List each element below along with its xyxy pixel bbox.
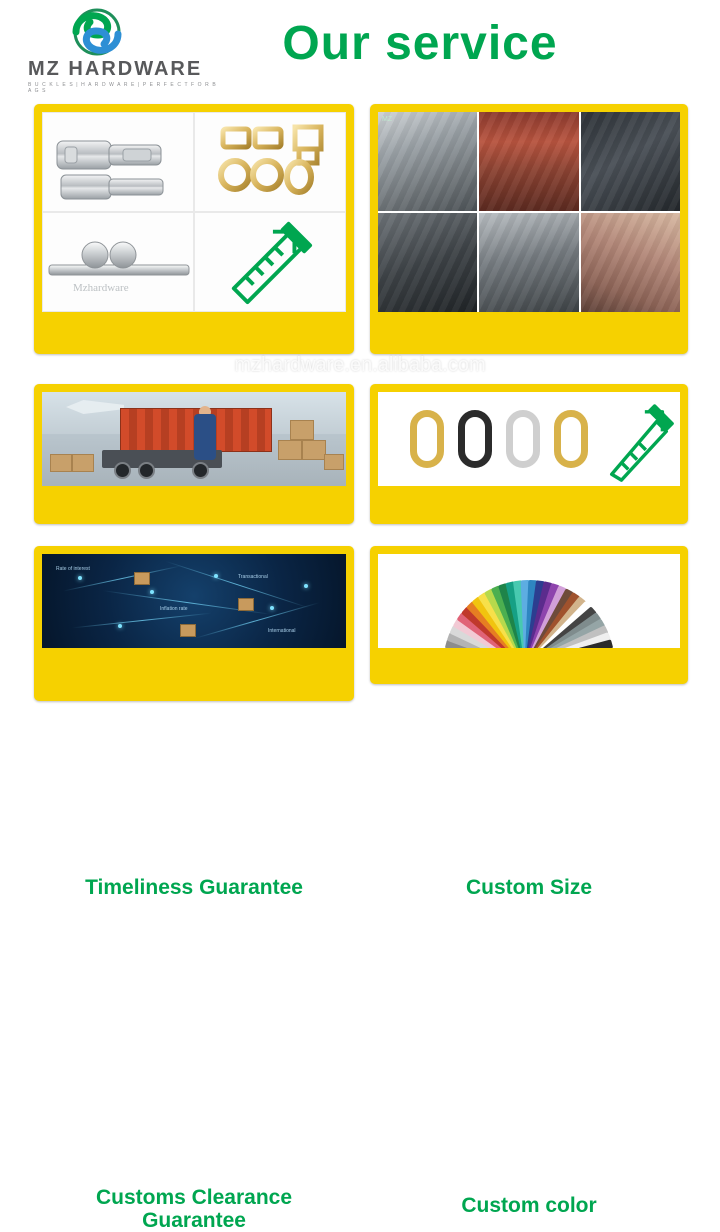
factory-photo-production-line: [479, 112, 578, 211]
card-custom-style: MZ Custom Style: [370, 104, 688, 354]
oval-quick-link-black: [458, 410, 492, 468]
oval-quick-link-silver: [506, 410, 540, 468]
svg-text:Mzhardware: Mzhardware: [73, 282, 129, 294]
brand-logo: MZ HARDWARE B U C K L E S | H A R D W A …: [18, 8, 208, 86]
card-label-custom-size: Custom Size: [370, 876, 688, 899]
customs-term-3: International: [268, 628, 296, 634]
factory-photo-workshop: [479, 213, 578, 312]
poster-header: MZ HARDWARE B U C K L E S | H A R D W A …: [0, 0, 720, 96]
card-customs-clearance: Rate of interest Inflation rate Transact…: [34, 546, 354, 701]
oval-quick-link-brass: [554, 410, 588, 468]
card-label-customs-clearance-line2: Guarantee: [34, 1209, 354, 1232]
card-custom-size: Custom Size: [370, 384, 688, 524]
custom-color-image: [378, 554, 680, 648]
customs-term-2: Transactional: [238, 574, 268, 580]
swirl-logo-icon: [66, 8, 128, 60]
customs-term-1: Inflation rate: [160, 606, 188, 612]
page-title: Our service: [205, 16, 635, 71]
factory-photo-parts-tray: [378, 213, 477, 312]
service-poster: MZ HARDWARE B U C K L E S | H A R D W A …: [0, 0, 720, 720]
ruler-pencil-icon: [194, 212, 346, 312]
card-timeliness: Timeliness Guarantee: [34, 384, 354, 524]
ring-icon: [194, 112, 346, 212]
card-label-custom-color: Custom color: [370, 1194, 688, 1217]
factory-logo-badge: MZ: [382, 116, 392, 123]
custom-size-image: [378, 392, 680, 486]
factory-photo-worker-bench: MZ: [378, 112, 477, 211]
ruler-pencil-icon: [600, 402, 670, 478]
factory-photo-hand-holding-buckle: [581, 213, 680, 312]
card-custom-color: Custom color: [370, 546, 688, 684]
brand-name: MZ HARDWARE: [28, 58, 208, 81]
worker-body: [194, 414, 216, 460]
customs-term-0: Rate of interest: [56, 566, 90, 572]
timeliness-image: [42, 392, 346, 486]
site-watermark: mzhardware.en.alibaba.com: [0, 354, 720, 377]
card-label-timeliness: Timeliness Guarantee: [34, 876, 354, 899]
factory-photo-machine-rack: [581, 112, 680, 211]
oval-quick-link-gold: [410, 410, 444, 468]
custom-style-image: MZ: [378, 112, 680, 312]
buckle-icon: [42, 112, 194, 212]
purse-frame-icon: Mzhardware: [42, 212, 194, 312]
customs-clearance-image: Rate of interest Inflation rate Transact…: [42, 554, 346, 648]
custom-logo-image: Mzhardware: [42, 112, 346, 312]
color-swatch-fan: [378, 554, 680, 648]
brand-tagline: B U C K L E S | H A R D W A R E | P E R …: [28, 82, 218, 94]
card-custom-logo: Mzhardware: [34, 104, 354, 354]
card-label-customs-clearance-line1: Customs Clearance: [34, 1186, 354, 1209]
